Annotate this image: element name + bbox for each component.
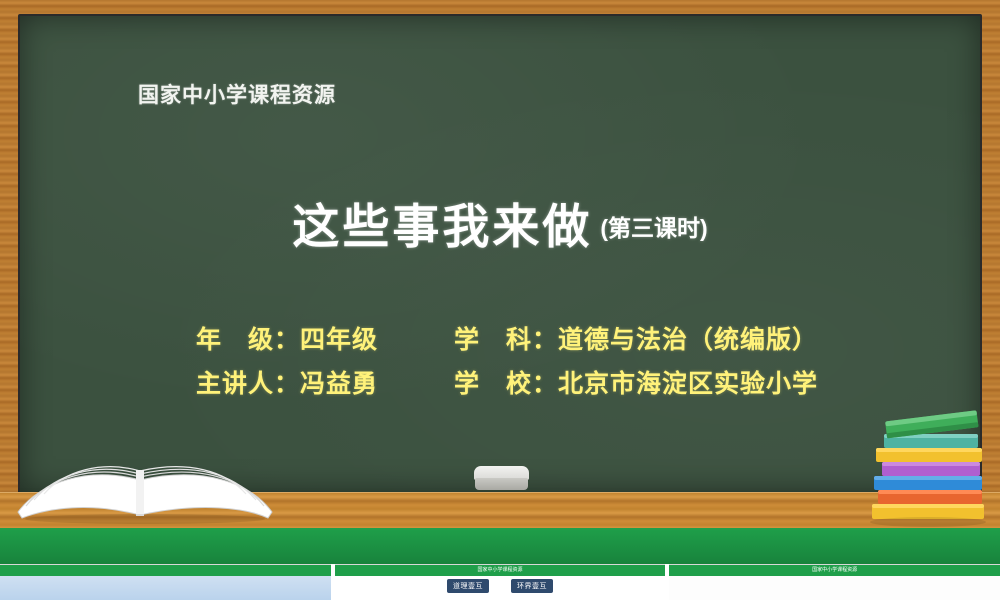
metadata-grade: 年 级：四年级	[196, 318, 454, 362]
thumbnail-2-body: 道理壹互 环界壹互	[335, 576, 666, 600]
thumbnail-2-brand: 国家中小学课程资源	[477, 566, 522, 573]
slide-thumbnail-2[interactable]: 国家中小学课程资源 道理壹互 环界壹互	[335, 564, 666, 600]
thumbnail-1-header	[0, 565, 331, 576]
slide-title: 这些事我来做(第三课时)	[0, 188, 1000, 257]
green-divider-band	[0, 528, 1000, 564]
slide-thumbnail-1[interactable]	[0, 564, 331, 600]
thumbnail-2-header: 国家中小学课程资源	[335, 565, 666, 576]
metadata-school: 学 校：北京市海淀区实验小学	[454, 362, 818, 406]
thumbnail-3-body	[669, 576, 1000, 600]
metadata-presenter: 主讲人：冯益勇	[196, 362, 454, 406]
presentation-slide-view: 国家中小学课程资源 这些事我来做(第三课时) 年 级：四年级学 科：道德与法治（…	[0, 0, 1000, 600]
open-book-icon	[10, 420, 280, 525]
metadata-row-teacher: 主讲人：冯益勇学 校：北京市海淀区实验小学	[196, 362, 818, 406]
slide-thumbnail-strip[interactable]: 国家中小学课程资源 道理壹互 环界壹互 国家中小学课程资源	[0, 564, 1000, 600]
metadata-subject: 学 科：道德与法治（统编版）	[454, 318, 818, 362]
slide-metadata-block: 年 级：四年级学 科：道德与法治（统编版） 主讲人：冯益勇学 校：北京市海淀区实…	[196, 318, 818, 406]
slide-canvas: 国家中小学课程资源 这些事我来做(第三课时) 年 级：四年级学 科：道德与法治（…	[0, 0, 1000, 547]
thumbnail-1-body	[0, 576, 331, 600]
thumbnail-3-header: 国家中小学课程资源	[669, 565, 1000, 576]
slide-thumbnail-3[interactable]: 国家中小学课程资源	[669, 564, 1000, 600]
brand-label: 国家中小学课程资源	[138, 79, 336, 109]
slide-title-subtitle: (第三课时)	[600, 215, 707, 241]
thumbnail-2-chip-row: 道理壹互 环界壹互	[335, 579, 666, 593]
eraser-icon	[474, 466, 529, 492]
metadata-row-grade: 年 级：四年级学 科：道德与法治（统编版）	[196, 318, 818, 362]
thumbnail-3-brand: 国家中小学课程资源	[812, 566, 857, 573]
book-stack-icon	[868, 400, 993, 530]
thumbnail-2-chip-2: 环界壹互	[511, 579, 553, 593]
thumbnail-2-chip-1: 道理壹互	[447, 579, 489, 593]
slide-title-main: 这些事我来做	[292, 200, 592, 253]
